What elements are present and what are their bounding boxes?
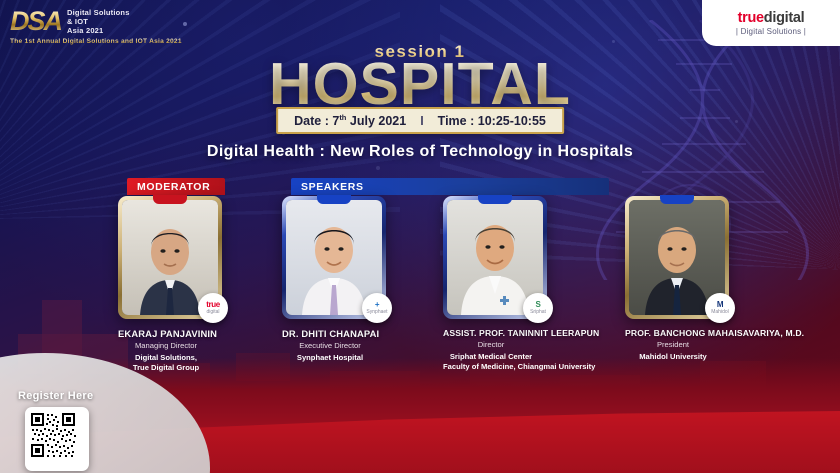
speaker-3-photo-frame: M Mahidol — [625, 196, 729, 319]
qr-code[interactable] — [25, 407, 89, 471]
frame-notch — [660, 195, 694, 204]
frame-notch — [317, 195, 351, 204]
dsa-logo: DSA Digital Solutions & IOT Asia 2021 Th… — [10, 8, 210, 45]
date-label: Date : — [294, 114, 329, 128]
session-subtitle: Digital Health : New Roles of Technology… — [0, 143, 840, 161]
dsa-logo-sub-line3: Asia 2021 — [67, 26, 130, 35]
badge-line2: Mahidol — [711, 309, 729, 315]
badge-line2: Synphaet — [366, 309, 387, 315]
dsa-logo-mark: DSA — [10, 8, 61, 35]
sriphat-circle-badge: S Sriphat — [523, 293, 553, 323]
moderator-org-line1: Digital Solutions, — [118, 353, 214, 363]
speaker-card-2: S Sriphat ASSIST. PROF. TANINNIT LEERAPU… — [443, 196, 539, 372]
qr-code-icon — [29, 411, 77, 459]
moderator-banner: MODERATOR — [127, 178, 225, 195]
time-value: 10:25-10:55 — [478, 114, 546, 128]
speaker-card-3: M Mahidol PROF. BANCHONG MAHAISAVARIYA, … — [625, 196, 721, 362]
moderator-photo-frame: true digital — [118, 196, 222, 319]
speaker-1-name: DR. DHITI CHANAPAI — [282, 328, 378, 339]
speaker-3-org-line1: Mahidol University — [625, 352, 721, 362]
truedigital-subtitle: | Digital Solutions | — [736, 27, 806, 36]
speaker-3-name: PROF. BANCHONG MAHAISAVARIYA, M.D. — [625, 328, 721, 338]
moderator-role: Managing Director — [118, 341, 214, 350]
date-time-separator: I — [416, 114, 427, 128]
mahidol-circle-badge: M Mahidol — [705, 293, 735, 323]
speaker-2-role: Director — [443, 340, 539, 349]
truedigital-name-digital: digital — [764, 10, 805, 26]
truedigital-circle-badge: true digital — [198, 293, 228, 323]
speaker-1-photo-frame: + Synphaet — [282, 196, 386, 319]
time-text: Time : 10:25-10:55 — [438, 114, 546, 128]
speaker-1-role: Executive Director — [282, 341, 378, 350]
speaker-card-1: + Synphaet DR. DHITI CHANAPAI Executive … — [282, 196, 378, 363]
moderator-name: EKARAJ PANJAVININ — [118, 328, 214, 339]
speaker-2-photo-frame: S Sriphat — [443, 196, 547, 319]
time-label: Time : — [438, 114, 475, 128]
synphaet-circle-badge: + Synphaet — [362, 293, 392, 323]
badge-line1: true — [206, 301, 220, 309]
frame-notch — [478, 195, 512, 204]
truedigital-logo-badge: truedigital | Digital Solutions | — [702, 0, 840, 46]
speaker-1-org-line1: Synphaet Hospital — [282, 353, 378, 363]
speaker-2-org-line2: Faculty of Medicine, Chiangmai Universit… — [443, 362, 539, 372]
dsa-logo-sub-line1: Digital Solutions — [67, 8, 130, 17]
badge-line1: S — [536, 301, 541, 309]
frame-notch — [153, 195, 187, 204]
truedigital-name-true: true — [738, 10, 764, 26]
register-here-label: Register Here — [18, 390, 93, 402]
speaker-2-name: ASSIST. PROF. TANINNIT LEERAPUN — [443, 328, 539, 338]
moderator-org-line2: True Digital Group — [118, 363, 214, 373]
event-poster: DSA Digital Solutions & IOT Asia 2021 Th… — [0, 0, 840, 473]
page-title: HOSPITAL — [0, 55, 840, 114]
date-rest: July 2021 — [350, 114, 406, 128]
speaker-2-org-line1: Sriphat Medical Center — [443, 352, 539, 362]
moderator-card: true digital EKARAJ PANJAVININ Managing … — [118, 196, 214, 373]
date-time-box: Date : 7th July 2021 I Time : 10:25-10:5… — [276, 107, 564, 134]
badge-line2: digital — [206, 309, 219, 315]
date-text: Date : 7th July 2021 — [294, 113, 406, 128]
speakers-banner: SPEAKERS — [291, 178, 609, 195]
dsa-logo-sub-line2: & IOT — [67, 17, 130, 26]
badge-line2: Sriphat — [530, 309, 546, 315]
badge-line1: M — [717, 301, 723, 309]
date-ordinal: th — [339, 113, 346, 122]
speaker-3-role: President — [625, 340, 721, 349]
badge-line1: + — [375, 301, 379, 309]
